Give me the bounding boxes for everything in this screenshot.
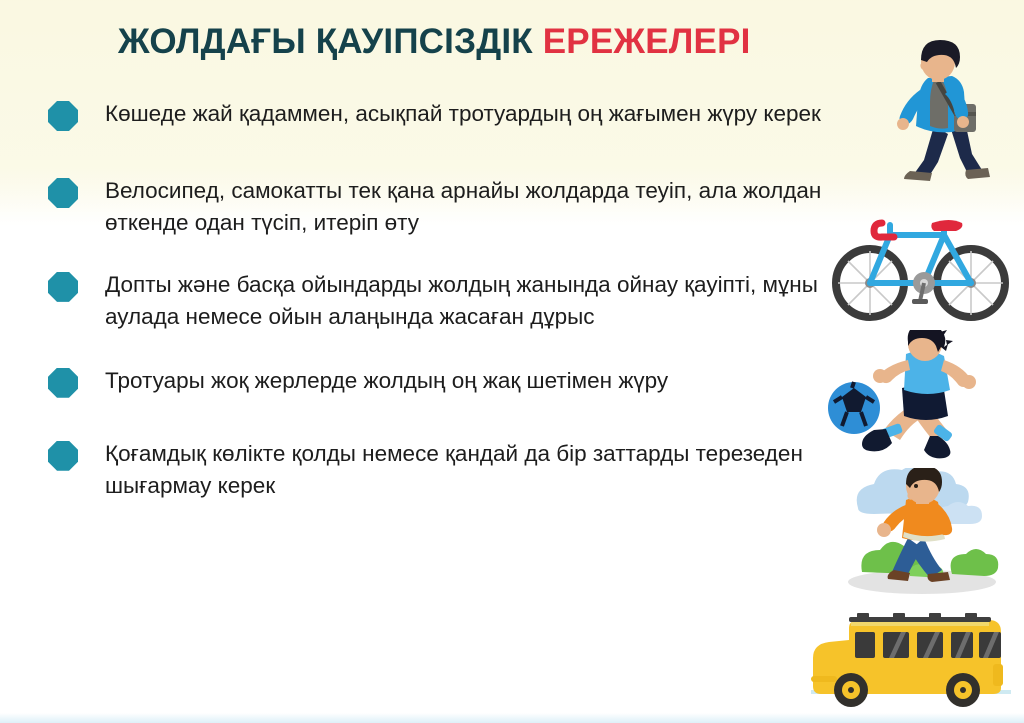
octagon-bullet-icon (48, 178, 78, 208)
rule-text: Велосипед, самокатты тек қана арнайы жол… (105, 175, 825, 239)
list-item: Көшеде жай қадаммен, асықпай тротуардың … (48, 98, 858, 131)
walking-boy-icon (876, 38, 1016, 188)
rule-text: Қоғамдық көлікте қолды немесе қандай да … (105, 438, 825, 502)
list-item: Тротуары жоқ жерлерде жолдың оң жақ шеті… (48, 365, 858, 398)
bottom-accent-band (0, 713, 1024, 723)
list-item: Допты және басқа ойындарды жолдың жанынд… (48, 269, 858, 333)
list-item: Велосипед, самокатты тек қана арнайы жол… (48, 175, 858, 239)
rule-text: Тротуары жоқ жерлерде жолдың оң жақ шеті… (105, 365, 668, 397)
rule-text: Допты және басқа ойындарды жолдың жанынд… (105, 269, 825, 333)
octagon-bullet-icon (48, 368, 78, 398)
bicycle-icon (832, 205, 1012, 323)
page-title: ЖОЛДАҒЫ ҚАУІПСІЗДІК ЕРЕЖЕЛЕРІ (118, 20, 751, 64)
school-bus-icon (803, 606, 1018, 711)
rules-list: Көшеде жай қадаммен, асықпай тротуардың … (48, 98, 858, 502)
octagon-bullet-icon (48, 101, 78, 131)
boy-playing-football-icon (826, 330, 1006, 460)
boy-walking-roadside-icon (840, 468, 1010, 596)
title-part-primary: ЖОЛДАҒЫ ҚАУІПСІЗДІК (118, 22, 533, 61)
list-item: Қоғамдық көлікте қолды немесе қандай да … (48, 438, 858, 502)
octagon-bullet-icon (48, 441, 78, 471)
title-part-accent: ЕРЕЖЕЛЕРІ (543, 22, 751, 61)
infographic-poster: ЖОЛДАҒЫ ҚАУІПСІЗДІК ЕРЕЖЕЛЕРІ Көшеде жай… (0, 0, 1024, 723)
octagon-bullet-icon (48, 272, 78, 302)
rule-text: Көшеде жай қадаммен, асықпай тротуардың … (105, 98, 821, 130)
